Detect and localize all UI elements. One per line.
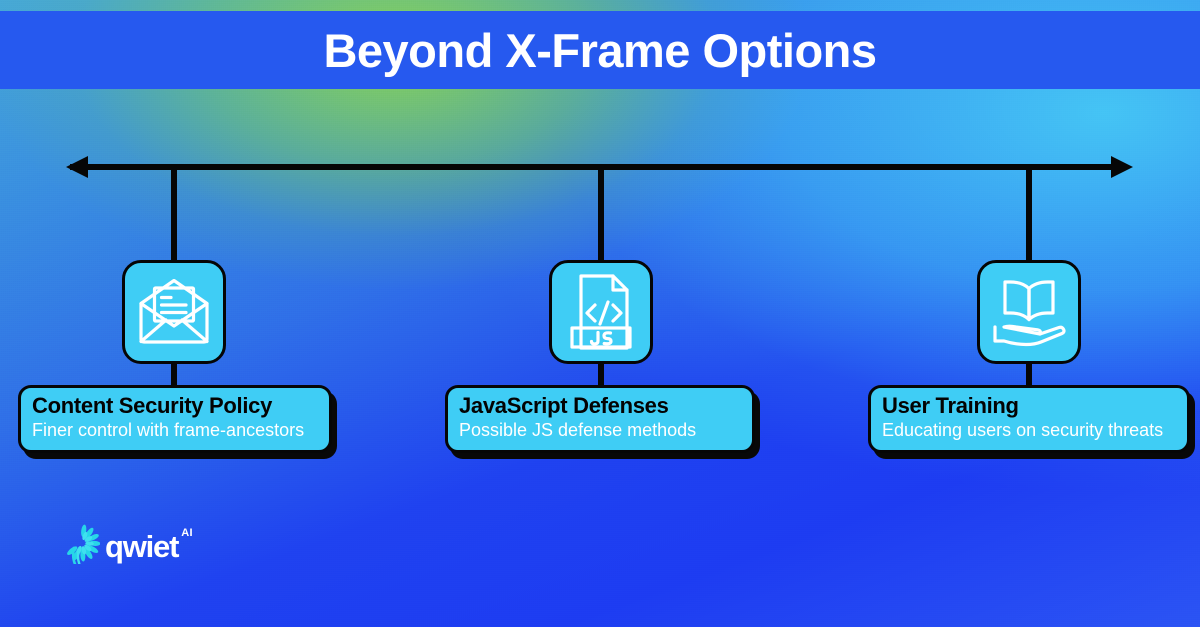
milestone-label-card-3[interactable]: User Training Educating users on securit… (868, 385, 1190, 453)
title-banner: Beyond X-Frame Options (0, 11, 1200, 89)
open-envelope-icon (137, 279, 211, 345)
infographic-canvas: Beyond X-Frame Options (0, 0, 1200, 627)
milestone-subtitle-2: Possible JS defense methods (459, 420, 741, 442)
qwiet-ai-suffix: AI (181, 527, 193, 539)
qwiet-ai-logo[interactable]: qwiet AI (64, 524, 193, 569)
milestone-icon-tile-3[interactable] (977, 260, 1081, 364)
milestone-label-card-1[interactable]: Content Security Policy Finer control wi… (18, 385, 332, 453)
milestone-title-3: User Training (882, 394, 1176, 418)
milestone-icon-tile-2[interactable] (549, 260, 653, 364)
milestone-title-1: Content Security Policy (32, 394, 318, 418)
qwiet-wordmark: qwiet (105, 531, 178, 562)
milestone-label-card-2[interactable]: JavaScript Defenses Possible JS defense … (445, 385, 755, 453)
javascript-file-icon (568, 274, 634, 350)
timeline-left-arrowhead (66, 156, 88, 178)
milestone-subtitle-3: Educating users on security threats (882, 420, 1176, 442)
book-in-hand-icon (991, 276, 1067, 348)
milestone-icon-tile-1[interactable] (122, 260, 226, 364)
page-title: Beyond X-Frame Options (323, 27, 876, 74)
timeline-right-arrowhead (1111, 156, 1133, 178)
milestone-subtitle-1: Finer control with frame-ancestors (32, 420, 318, 442)
milestone-title-2: JavaScript Defenses (459, 394, 741, 418)
qwiet-spiral-icon (64, 524, 100, 569)
